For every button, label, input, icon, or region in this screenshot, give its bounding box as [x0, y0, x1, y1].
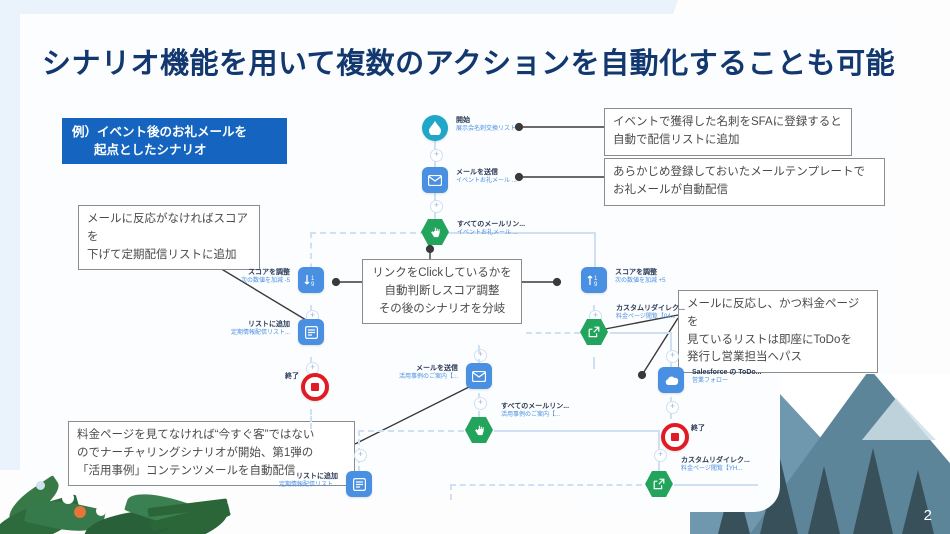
node-title: スコアを調整: [241, 269, 290, 278]
node-subtitle: 営業フォロー: [692, 378, 762, 386]
scenario-flow-diagram: + + 開始 展示会名刺交換リスト メールを送信 イベントお礼メール ...: [250, 105, 810, 515]
svg-text:9: 9: [594, 282, 598, 287]
node-title: カスタムリダイレク...: [681, 457, 750, 466]
flow-node-label: すべてのメールリン... イベントお礼メール ...: [457, 221, 525, 237]
list-icon: [346, 471, 372, 497]
custom-redirect-icon: [580, 319, 608, 345]
flow-node-end-1[interactable]: 終了: [301, 373, 329, 401]
flow-node-send-mail-2[interactable]: メールを送信 活用事例のご案内【...: [466, 363, 492, 389]
page-title: シナリオ機能を用いて複数のアクションを自動化することも可能: [42, 40, 895, 82]
node-title: リストに追加: [231, 321, 290, 330]
add-step-button[interactable]: +: [430, 149, 443, 162]
flow-node-label: すべてのメールリン... 活用事例のご案内【...: [501, 403, 569, 419]
flower-icon: [74, 506, 86, 518]
node-title: リストに追加: [279, 473, 338, 482]
envelope-icon: [422, 167, 448, 193]
click-hand-icon: [465, 417, 493, 443]
stop-icon: [301, 373, 329, 401]
add-step-button[interactable]: +: [666, 401, 679, 414]
flow-node-label: スコアを調整 次の数値を加減 -5: [241, 269, 290, 285]
flow-node-custom-redirect-2[interactable]: カスタムリダイレク... 料金ページ閲覧【YH...: [645, 471, 673, 497]
node-subtitle: 展示会名刺交換リスト: [456, 126, 516, 134]
node-subtitle: 料金ページ閲覧【YH...: [681, 466, 750, 474]
flow-node-score-down[interactable]: 19 スコアを調整 次の数値を加減 -5: [298, 267, 324, 293]
flow-node-list-add-1[interactable]: リストに追加 定期情報配信リスト...: [298, 319, 324, 345]
envelope-icon: [466, 363, 492, 389]
flow-node-label: メールを送信 活用事例のご案内【...: [399, 365, 458, 381]
svg-text:9: 9: [311, 282, 315, 287]
flow-node-score-up[interactable]: 19 スコアを調整 次の数値を加減 +5: [581, 267, 607, 293]
flow-node-condition-1[interactable]: すべてのメールリン... イベントお礼メール ...: [421, 219, 449, 245]
custom-redirect-icon: [645, 471, 673, 497]
node-subtitle: イベントお礼メール ...: [456, 178, 517, 186]
flow-node-send-mail-1[interactable]: メールを送信 イベントお礼メール ...: [422, 167, 448, 193]
flow-node-label: リストに追加 定期情報配信リスト...: [279, 473, 338, 489]
add-step-button[interactable]: +: [430, 200, 443, 213]
flow-node-salesforce-todo[interactable]: Salesforce の ToDo... 営業フォロー: [658, 367, 684, 393]
node-subtitle: 定期情報配信リスト...: [231, 330, 290, 338]
node-subtitle: 活用事例のご案内【...: [501, 412, 569, 420]
flow-node-label: 終了: [691, 425, 705, 434]
flow-node-label: リストに追加 定期情報配信リスト...: [231, 321, 290, 337]
add-step-button[interactable]: +: [354, 449, 367, 462]
node-subtitle: イベントお礼メール ...: [457, 230, 525, 238]
flow-node-custom-redirect-1[interactable]: カスタムリダイレク... 料金ページ閲覧【04...: [580, 319, 608, 345]
flow-node-list-add-2[interactable]: リストに追加 定期情報配信リスト...: [346, 471, 372, 497]
slide-canvas: シナリオ機能を用いて複数のアクションを自動化することも可能 例）イベント後のお礼…: [0, 0, 950, 534]
node-title: 開始: [456, 117, 516, 126]
flow-node-label: スコアを調整 次の数値を加減 +5: [615, 269, 666, 285]
node-title: Salesforce の ToDo...: [692, 369, 762, 378]
node-title: メールを送信: [399, 365, 458, 374]
callout-no-response: メールに反応がなければスコアを 下げて定期配信リストに追加: [78, 205, 260, 270]
add-step-button[interactable]: +: [654, 449, 667, 462]
click-hand-icon: [421, 219, 449, 245]
node-title: 終了: [285, 373, 299, 382]
stop-icon: [661, 423, 689, 451]
node-title: カスタムリダイレク...: [616, 305, 685, 314]
flower-icon: [96, 506, 106, 516]
node-title: 終了: [691, 425, 705, 434]
node-subtitle: 次の数値を加減 -5: [241, 278, 290, 286]
page-number: 2: [924, 507, 932, 524]
flow-node-end-2[interactable]: 終了: [661, 423, 689, 451]
flow-node-label: カスタムリダイレク... 料金ページ閲覧【YH...: [681, 457, 750, 473]
list-icon: [298, 319, 324, 345]
flow-node-label: 終了: [285, 373, 299, 382]
add-step-button[interactable]: +: [474, 349, 487, 362]
add-step-button[interactable]: +: [474, 397, 487, 410]
flower-icon: [62, 492, 74, 504]
node-title: メールを送信: [456, 169, 517, 178]
node-subtitle: 料金ページ閲覧【04...: [616, 314, 685, 322]
node-title: すべてのメールリン...: [501, 403, 569, 412]
score-adjust-icon: 19: [298, 267, 324, 293]
example-badge-line1: 例）イベント後のお礼メールを: [72, 125, 247, 139]
node-subtitle: 活用事例のご案内【...: [399, 374, 458, 382]
node-subtitle: 定期情報配信リスト...: [279, 482, 338, 490]
flow-node-label: メールを送信 イベントお礼メール ...: [456, 169, 517, 185]
node-title: すべてのメールリン...: [457, 221, 525, 230]
add-step-button[interactable]: +: [666, 350, 679, 363]
flow-node-condition-2[interactable]: すべてのメールリン... 活用事例のご案内【...: [465, 417, 493, 443]
flow-node-label: 開始 展示会名刺交換リスト: [456, 117, 516, 133]
flow-node-label: Salesforce の ToDo... 営業フォロー: [692, 369, 762, 385]
score-adjust-icon: 19: [581, 267, 607, 293]
flow-node-start[interactable]: 開始 展示会名刺交換リスト: [422, 115, 448, 141]
flow-node-label: カスタムリダイレク... 料金ページ閲覧【04...: [616, 305, 685, 321]
flower-icon: [36, 481, 45, 490]
node-title: スコアを調整: [615, 269, 666, 278]
node-subtitle: 次の数値を加減 +5: [615, 278, 666, 286]
salesforce-cloud-icon: [658, 367, 684, 393]
example-badge-line2: 起点としたシナリオ: [72, 141, 247, 159]
drop-icon: [422, 115, 448, 141]
